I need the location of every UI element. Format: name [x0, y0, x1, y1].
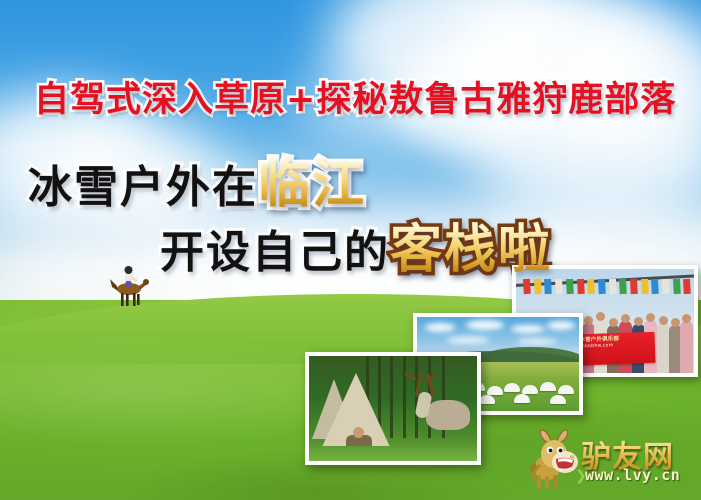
subhead-line2-black: 冰雪户外在: [28, 162, 258, 213]
cloud-shape: [511, 325, 545, 333]
subhead-line3-gold: 客栈啦: [390, 220, 552, 280]
yurt-tent: [540, 382, 556, 391]
cloud-shape: [446, 336, 490, 344]
prayer-flag: [609, 279, 617, 294]
prayer-flag: [523, 279, 531, 294]
yurt-tent: [487, 386, 503, 395]
tree-trunk: [403, 356, 406, 438]
prayer-flag: [555, 279, 563, 294]
cloud-shape: [547, 321, 575, 330]
forest-floor: [309, 446, 477, 461]
logo-url: www.lvy.cn: [585, 466, 680, 484]
subhead-line3: 开设自己的客栈啦客栈啦: [160, 207, 552, 282]
prayer-flag: [651, 279, 659, 294]
cloud-shape: [517, 338, 557, 345]
site-logo[interactable]: ❯ 驴友网 www.lvy.cn: [523, 428, 698, 496]
reindeer-body: [426, 400, 470, 430]
cloud-shape: [466, 320, 504, 330]
prayer-flag: [630, 279, 638, 294]
yurt-tent: [558, 385, 574, 394]
horse-rider-icon: [106, 262, 150, 307]
subhead-line3-gold-wrap: 客栈啦客栈啦: [390, 207, 552, 282]
prayer-flag: [544, 279, 552, 294]
yurt-tent: [514, 394, 530, 403]
prayer-flag: [683, 279, 691, 294]
prayer-flag: [587, 279, 595, 294]
yurt-tent: [550, 395, 566, 404]
subhead-line3-black: 开设自己的: [160, 227, 390, 278]
prayer-flag: [673, 279, 681, 294]
subhead-line2: 冰雪户外在临江临江: [28, 142, 366, 217]
prayer-flag: [566, 279, 574, 294]
photo-reindeer[interactable]: [305, 352, 481, 465]
donkey-mascot-icon: [523, 428, 585, 494]
subhead-line2-gold-wrap: 临江临江: [258, 142, 366, 217]
headline-line1: 自驾式深入草原+探秘敖鲁古雅狩鹿部落: [34, 71, 676, 122]
photo-reindeer-image: [309, 356, 477, 461]
prayer-flag: [598, 279, 606, 294]
prayer-flag: [534, 279, 542, 294]
prayer-flag: [577, 279, 585, 294]
prayer-flag: [619, 279, 627, 294]
prayer-flag: [641, 279, 649, 294]
poster-banner: 自驾式深入草原+探秘敖鲁古雅狩鹿部落 冰雪户外在临江临江 开设自己的客栈啦客栈啦: [0, 0, 701, 500]
cloud-shape: [425, 323, 455, 332]
prayer-flag: [662, 279, 670, 294]
subhead-line2-gold: 临江: [258, 155, 366, 215]
person-head: [353, 427, 364, 438]
